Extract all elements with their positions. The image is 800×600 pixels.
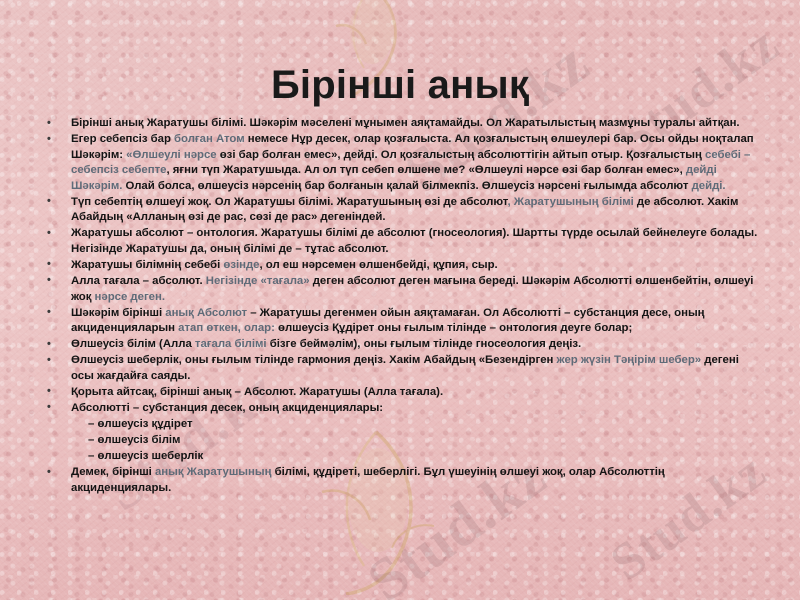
bullet-text: , яғни түп Жаратушыда. Ал ол түп себеп ө… — [166, 164, 685, 176]
bullet-text: Шәкәрім бірінші — [71, 307, 165, 319]
slide-title: Бірінші анық — [0, 63, 800, 107]
bullet-text: Жаратушы білімнің себебі — [71, 259, 223, 271]
bullet-text: бізге беймәлім), оны ғылым тілінде гносе… — [267, 338, 582, 350]
bullet-text: өлшеусіз Құдірет оны ғылым тілінде – онт… — [275, 322, 632, 334]
bullet-text: Олай болса, өлшеусіз нәрсенің бар болған… — [122, 180, 691, 192]
bullet-item: Өлшеусіз білім (Алла тағала білімі бізге… — [40, 337, 762, 353]
bullet-item: Қорыта айтсақ, бірінші анық – Абсолют. Ж… — [40, 385, 762, 401]
bullet-text-highlight: тағала білімі — [195, 338, 267, 350]
bullet-text: Өлшеусіз шеберлік, оны ғылым тілінде гар… — [71, 354, 557, 366]
bullet-item: Түп себептің өлшеуі жоқ. Ол Жаратушы біл… — [40, 195, 762, 226]
bullet-text: – өлшеусіз құдірет — [88, 418, 193, 430]
bullet-text: – өлшеусіз шеберлік — [88, 450, 203, 462]
bullet-item: – өлшеусіз шеберлік — [40, 449, 762, 465]
bullet-text-highlight: жер жүзін Тәңірім шебер» — [557, 354, 702, 366]
bullet-item: Шәкәрім бірінші анық Абсолют – Жаратушы … — [40, 306, 762, 337]
bullet-item: Егер себепсіз бар болған Атом немесе Нұр… — [40, 132, 762, 194]
bullet-text: Қорыта айтсақ, бірінші анық – Абсолют. Ж… — [71, 386, 443, 398]
bullet-text-highlight: анық Жаратушының — [155, 466, 271, 478]
bullet-text: Өлшеусіз білім (Алла — [71, 338, 195, 350]
bullet-text: Түп себептің өлшеуі жоқ. Ол Жаратушы біл… — [71, 196, 508, 208]
bullet-item: Демек, бірінші анық Жаратушының білімі, … — [40, 465, 762, 496]
slide-bullet-list: Бірінші анық Жаратушы білімі. Шәкәрім мә… — [40, 116, 762, 497]
bullet-text-highlight: анық Абсолют — [165, 307, 247, 319]
bullet-item: – өлшеусіз білім — [40, 433, 762, 449]
bullet-text-highlight: «Өлшеулі нәрсе — [126, 149, 216, 161]
bullet-item: Абсолютті – субстанция десек, оның акцид… — [40, 401, 762, 417]
bullet-text: Егер себепсіз бар — [71, 133, 174, 145]
bullet-item: Өлшеусіз шеберлік, оны ғылым тілінде гар… — [40, 353, 762, 384]
bullet-text-highlight: Негізінде «тағала» — [206, 275, 310, 287]
presentation-slide: Stud.kz Stud.kz Stud.kz Stud.kz Stud.kz … — [0, 0, 800, 600]
bullet-text: Алла тағала – абсолют. — [71, 275, 206, 287]
bullet-text: Демек, бірінші — [71, 466, 155, 478]
bullet-text-highlight: атап өткен, олар: — [178, 322, 275, 334]
bullet-item: Жаратушы абсолют – онтология. Жаратушы б… — [40, 226, 762, 257]
bullet-text: – өлшеусіз білім — [88, 434, 180, 446]
bullet-text-highlight: өзінде — [223, 259, 259, 271]
bullet-text: , ол еш нәрсемен өлшенбейді, құпия, сыр. — [260, 259, 498, 271]
bullet-text: Абсолютті – субстанция десек, оның акцид… — [71, 402, 383, 414]
bullet-text: Жаратушы абсолют – онтология. Жаратушы б… — [71, 227, 757, 255]
bullet-text: Бірінші анық Жаратушы білімі. Шәкәрім мә… — [71, 117, 740, 129]
bullet-item: Бірінші анық Жаратушы білімі. Шәкәрім мә… — [40, 116, 762, 132]
bullet-text-highlight: дейді. — [692, 180, 726, 192]
bullet-item: Жаратушы білімнің себебі өзінде, ол еш н… — [40, 258, 762, 274]
bullet-item: Алла тағала – абсолют. Негізінде «тағала… — [40, 274, 762, 305]
bullet-item: – өлшеусіз құдірет — [40, 417, 762, 433]
bullet-text-highlight: нәрсе деген. — [95, 291, 165, 303]
bullet-text-highlight: болған Атом — [174, 133, 245, 145]
bullet-text-highlight: , Жаратушының білімі — [508, 196, 634, 208]
bullet-text: өзі бар болған емес», дейді. Ол қозғалыс… — [217, 149, 705, 161]
